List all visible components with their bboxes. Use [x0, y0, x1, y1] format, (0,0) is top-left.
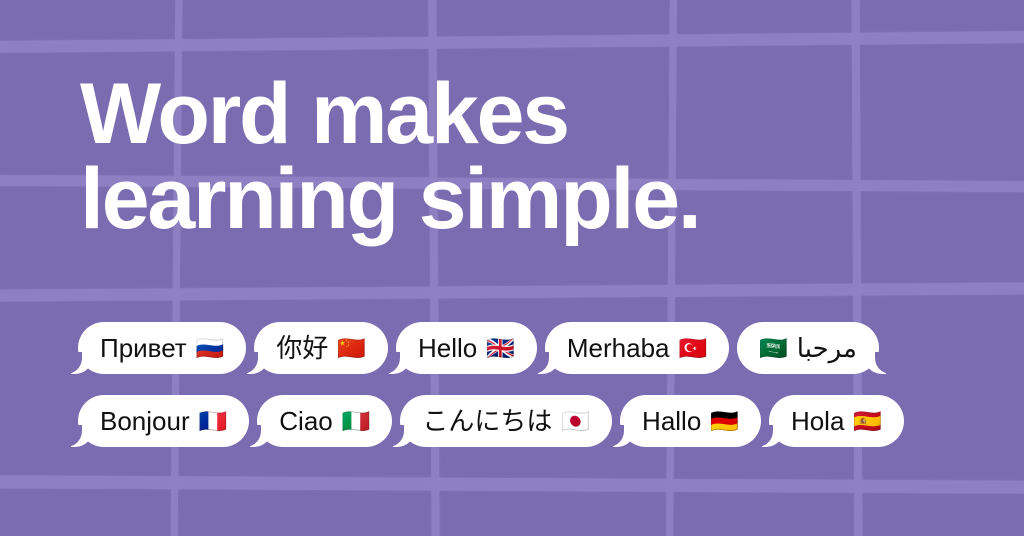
bubble-tail-icon: [247, 352, 269, 374]
grid-line-horizontal: [0, 475, 1024, 494]
flag-spanish-icon: 🇪🇸: [853, 410, 882, 433]
greeting-text: Bonjour: [100, 408, 190, 434]
greeting-bubble-chinese[interactable]: 你好🇨🇳: [254, 322, 388, 374]
bubble-tail-icon: [864, 352, 886, 374]
bubble-tail-icon: [250, 425, 272, 447]
greeting-bubble-spanish[interactable]: Hola🇪🇸: [769, 395, 904, 447]
bubble-tail-icon: [71, 425, 93, 447]
greeting-text: Hallo: [642, 408, 701, 434]
bubble-row: Bonjour🇫🇷Ciao🇮🇹こんにちは🇯🇵Hallo🇩🇪Hola🇪🇸: [78, 395, 958, 447]
bubble-row: Привет🇷🇺你好🇨🇳Hello🇬🇧Merhaba🇹🇷مرحبا🇸🇦: [78, 322, 958, 374]
flag-french-icon: 🇫🇷: [199, 410, 228, 433]
flag-russian-icon: 🇷🇺: [196, 337, 225, 360]
greeting-bubble-french[interactable]: Bonjour🇫🇷: [78, 395, 249, 447]
greeting-bubble-turkish[interactable]: Merhaba🇹🇷: [545, 322, 729, 374]
bubble-tail-icon: [538, 352, 560, 374]
flag-english-icon: 🇬🇧: [486, 337, 515, 360]
bubble-tail-icon: [393, 425, 415, 447]
greeting-text: Hello: [418, 335, 477, 361]
headline: Word makes learning simple.: [80, 72, 940, 242]
flag-chinese-icon: 🇨🇳: [337, 337, 366, 360]
promo-banner: Word makes learning simple. Привет🇷🇺你好🇨🇳…: [0, 0, 1024, 536]
flag-japanese-icon: 🇯🇵: [561, 410, 590, 433]
bubble-tail-icon: [71, 352, 93, 374]
greeting-text: 你好: [276, 335, 328, 361]
greeting-text: مرحبا: [797, 335, 857, 361]
flag-german-icon: 🇩🇪: [710, 410, 739, 433]
flag-arabic-icon: 🇸🇦: [759, 337, 788, 360]
greeting-bubble-italian[interactable]: Ciao🇮🇹: [257, 395, 392, 447]
bubble-tail-icon: [762, 425, 784, 447]
greeting-text: Привет: [100, 335, 187, 361]
bubble-tail-icon: [389, 352, 411, 374]
flag-italian-icon: 🇮🇹: [342, 410, 371, 433]
grid-line-horizontal: [0, 282, 1024, 301]
flag-turkish-icon: 🇹🇷: [679, 337, 708, 360]
greeting-bubble-german[interactable]: Hallo🇩🇪: [620, 395, 761, 447]
greeting-bubble-russian[interactable]: Привет🇷🇺: [78, 322, 246, 374]
bubble-tail-icon: [613, 425, 635, 447]
greeting-text: Merhaba: [567, 335, 670, 361]
greeting-text: こんにちは: [422, 408, 552, 434]
greeting-bubble-english[interactable]: Hello🇬🇧: [396, 322, 537, 374]
greeting-bubble-japanese[interactable]: こんにちは🇯🇵: [400, 395, 612, 447]
greeting-text: Hola: [791, 408, 844, 434]
greeting-text: Ciao: [279, 408, 332, 434]
grid-line-horizontal: [0, 31, 1024, 53]
greeting-bubbles: Привет🇷🇺你好🇨🇳Hello🇬🇧Merhaba🇹🇷مرحبا🇸🇦 Bonj…: [78, 322, 958, 468]
greeting-bubble-arabic[interactable]: مرحبا🇸🇦: [737, 322, 879, 374]
